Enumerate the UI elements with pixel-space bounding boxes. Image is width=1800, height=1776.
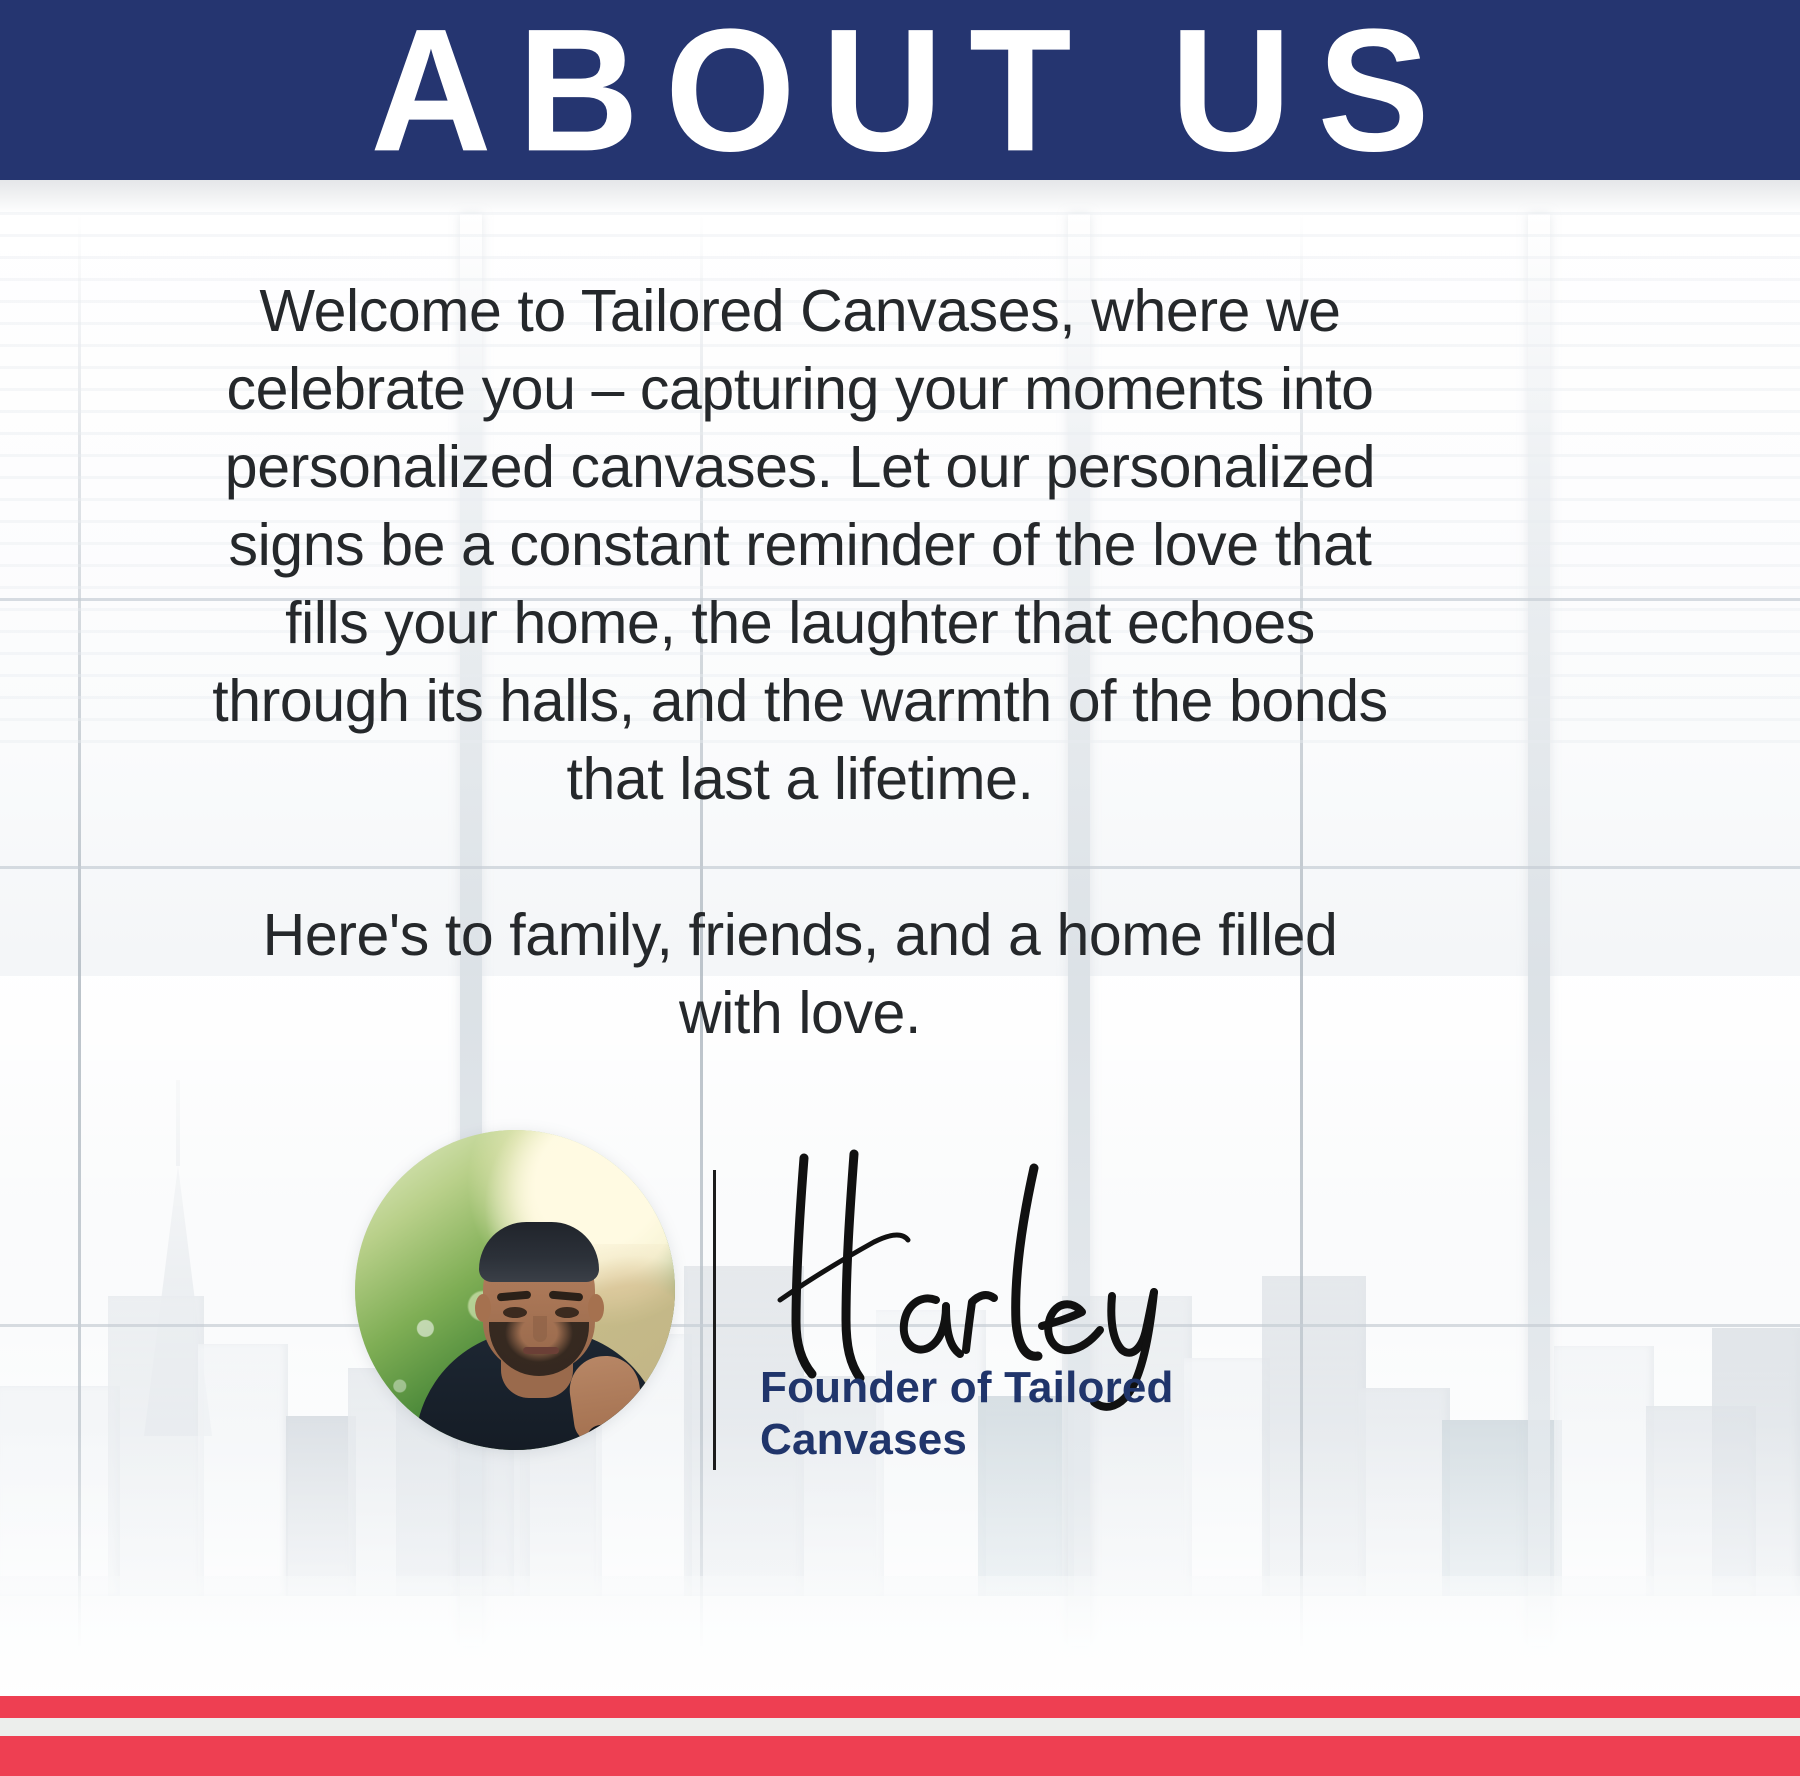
portrait-ear-right <box>588 1294 604 1322</box>
founder-role-line-2: Canvases <box>760 1414 1280 1466</box>
footer-rule-top <box>0 1696 1800 1718</box>
about-us-card: ABOUT US Welcome to Tailored Canvases, w… <box>0 0 1800 1776</box>
footer-rule-bottom <box>0 1736 1800 1776</box>
founder-role: Founder of Tailored Canvases <box>760 1362 1280 1466</box>
portrait-mouth <box>523 1347 559 1354</box>
founder-signature-block: Founder of Tailored Canvases <box>355 1130 1355 1480</box>
avatar-photo <box>355 1130 675 1450</box>
founder-role-line-1: Founder of Tailored <box>760 1362 1280 1414</box>
handwritten-signature <box>750 1150 1220 1390</box>
footer-rule-gap <box>0 1718 1800 1736</box>
portrait-eye-left <box>503 1307 527 1318</box>
avatar <box>355 1130 675 1450</box>
signature-divider <box>713 1170 716 1470</box>
header-bar: ABOUT US <box>0 0 1800 180</box>
paragraph-2: Here's to family, friends, and a home fi… <box>210 896 1390 1052</box>
portrait-eye-right <box>555 1307 579 1318</box>
portrait-ear-left <box>475 1294 491 1322</box>
page-title: ABOUT US <box>344 3 1455 178</box>
paragraph-1: Welcome to Tailored Canvases, where we c… <box>210 272 1390 818</box>
about-body-copy: Welcome to Tailored Canvases, where we c… <box>210 272 1390 1052</box>
